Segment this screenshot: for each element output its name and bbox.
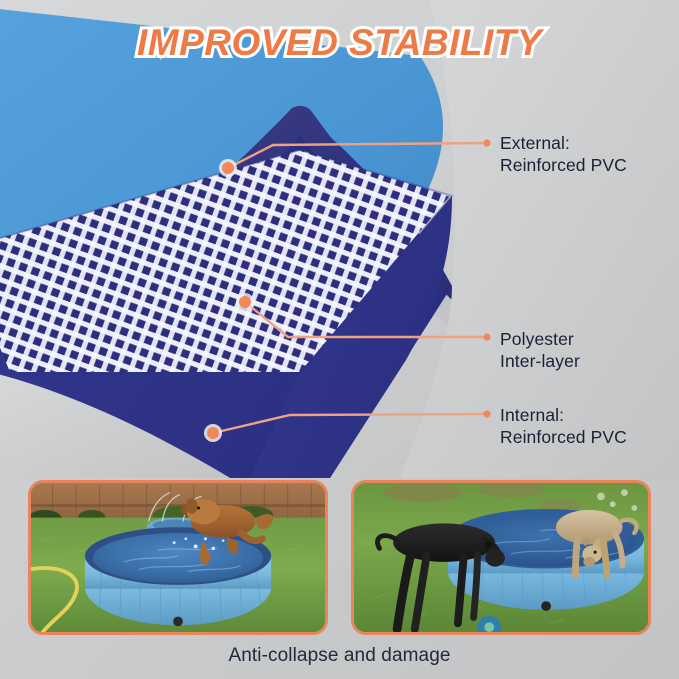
- photo-row: [0, 480, 679, 640]
- callout-label-polyester: Polyester Inter-layer: [500, 328, 580, 373]
- callout-label-internal: Internal: Reinforced PVC: [500, 404, 627, 449]
- photo-left: [28, 480, 328, 635]
- bottom-caption: Anti-collapse and damage: [0, 645, 679, 667]
- infographic-page: IMPROVED STABILITY External: Reinforced …: [0, 0, 679, 679]
- photo-right: [351, 480, 651, 635]
- page-title: IMPROVED STABILITY: [0, 22, 679, 64]
- callout-label-external: External: Reinforced PVC: [500, 132, 627, 177]
